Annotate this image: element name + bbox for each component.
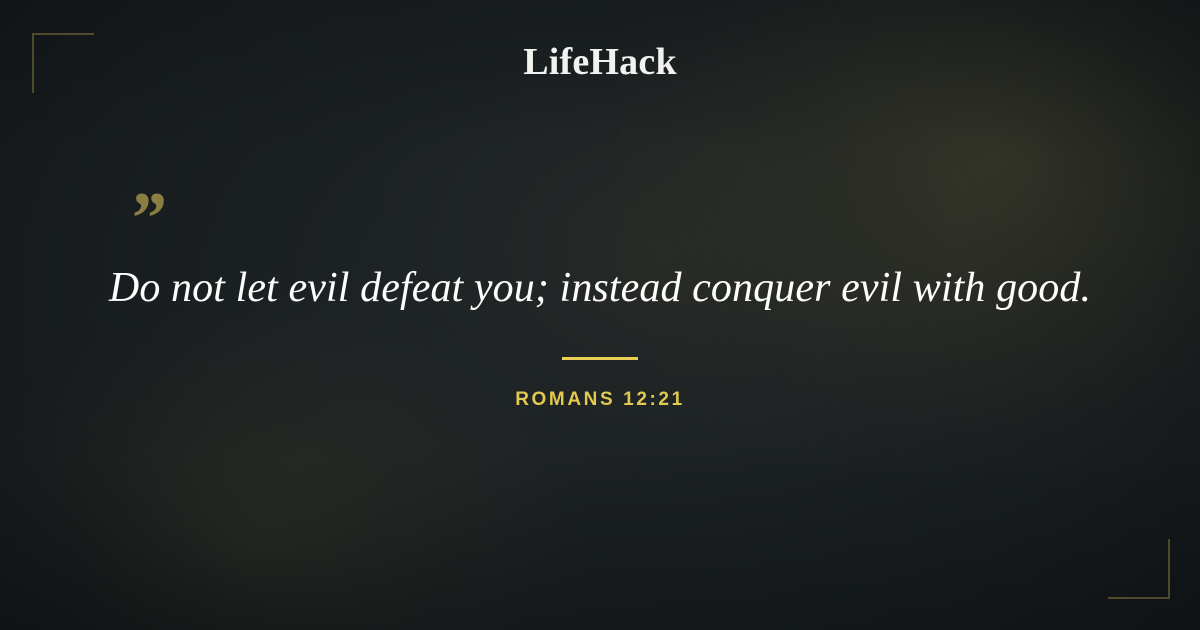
corner-bracket-bottom-right-icon (1108, 539, 1170, 599)
quote-attribution: ROMANS 12:21 (0, 389, 1200, 411)
quotation-mark-icon: ” (128, 182, 165, 256)
divider-rule (562, 357, 638, 360)
brand-logo: LifeHack (0, 40, 1200, 84)
background-glow-lower-left (0, 300, 580, 630)
quote-text: Do not let evil defeat you; instead conq… (60, 262, 1140, 316)
quote-card: LifeHack ” Do not let evil defeat you; i… (0, 0, 1200, 630)
